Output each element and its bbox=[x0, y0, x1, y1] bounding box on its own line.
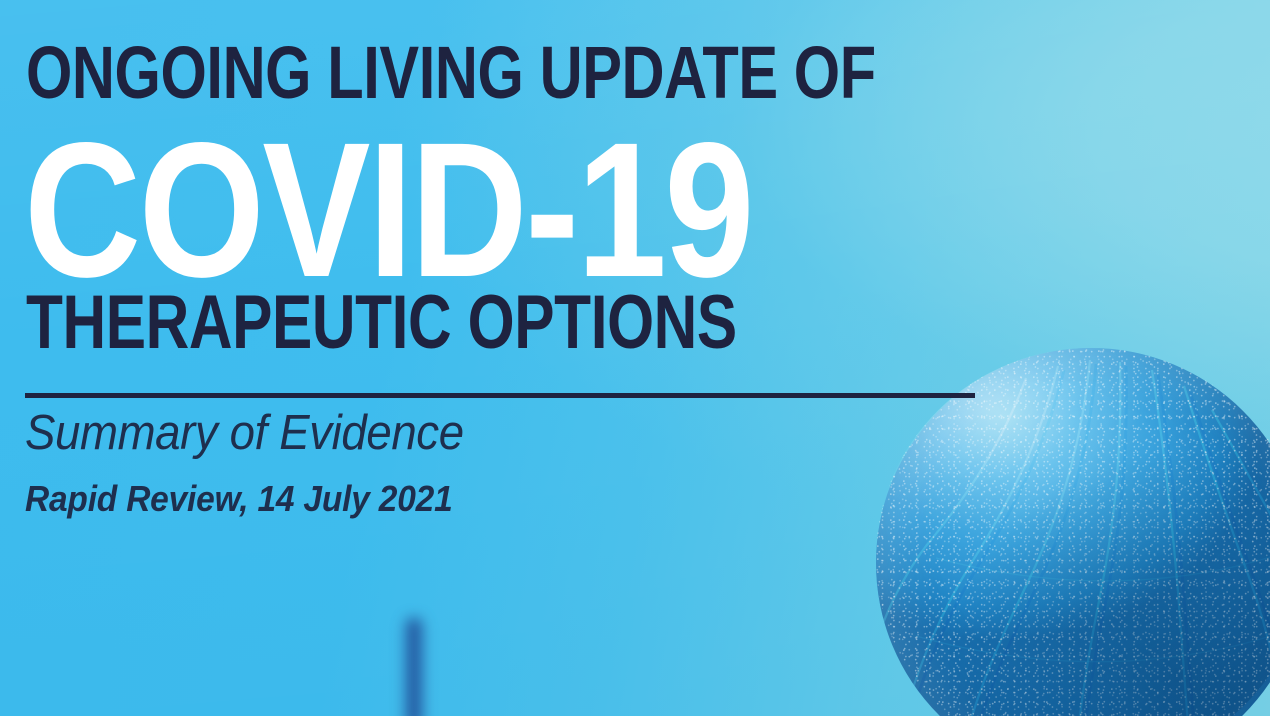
cover-page: ONGOING LIVING UPDATE OF COVID-19 THERAP… bbox=[0, 0, 1270, 716]
kicker-title: ONGOING LIVING UPDATE OF bbox=[26, 36, 876, 110]
title-divider bbox=[25, 393, 975, 398]
main-title: COVID-19 bbox=[24, 114, 752, 306]
secondary-title: THERAPEUTIC OPTIONS bbox=[26, 285, 737, 361]
subtitle-text: Summary of Evidence bbox=[25, 409, 464, 458]
review-date-text: Rapid Review, 14 July 2021 bbox=[25, 481, 453, 517]
blurred-vertical-object bbox=[403, 618, 425, 716]
